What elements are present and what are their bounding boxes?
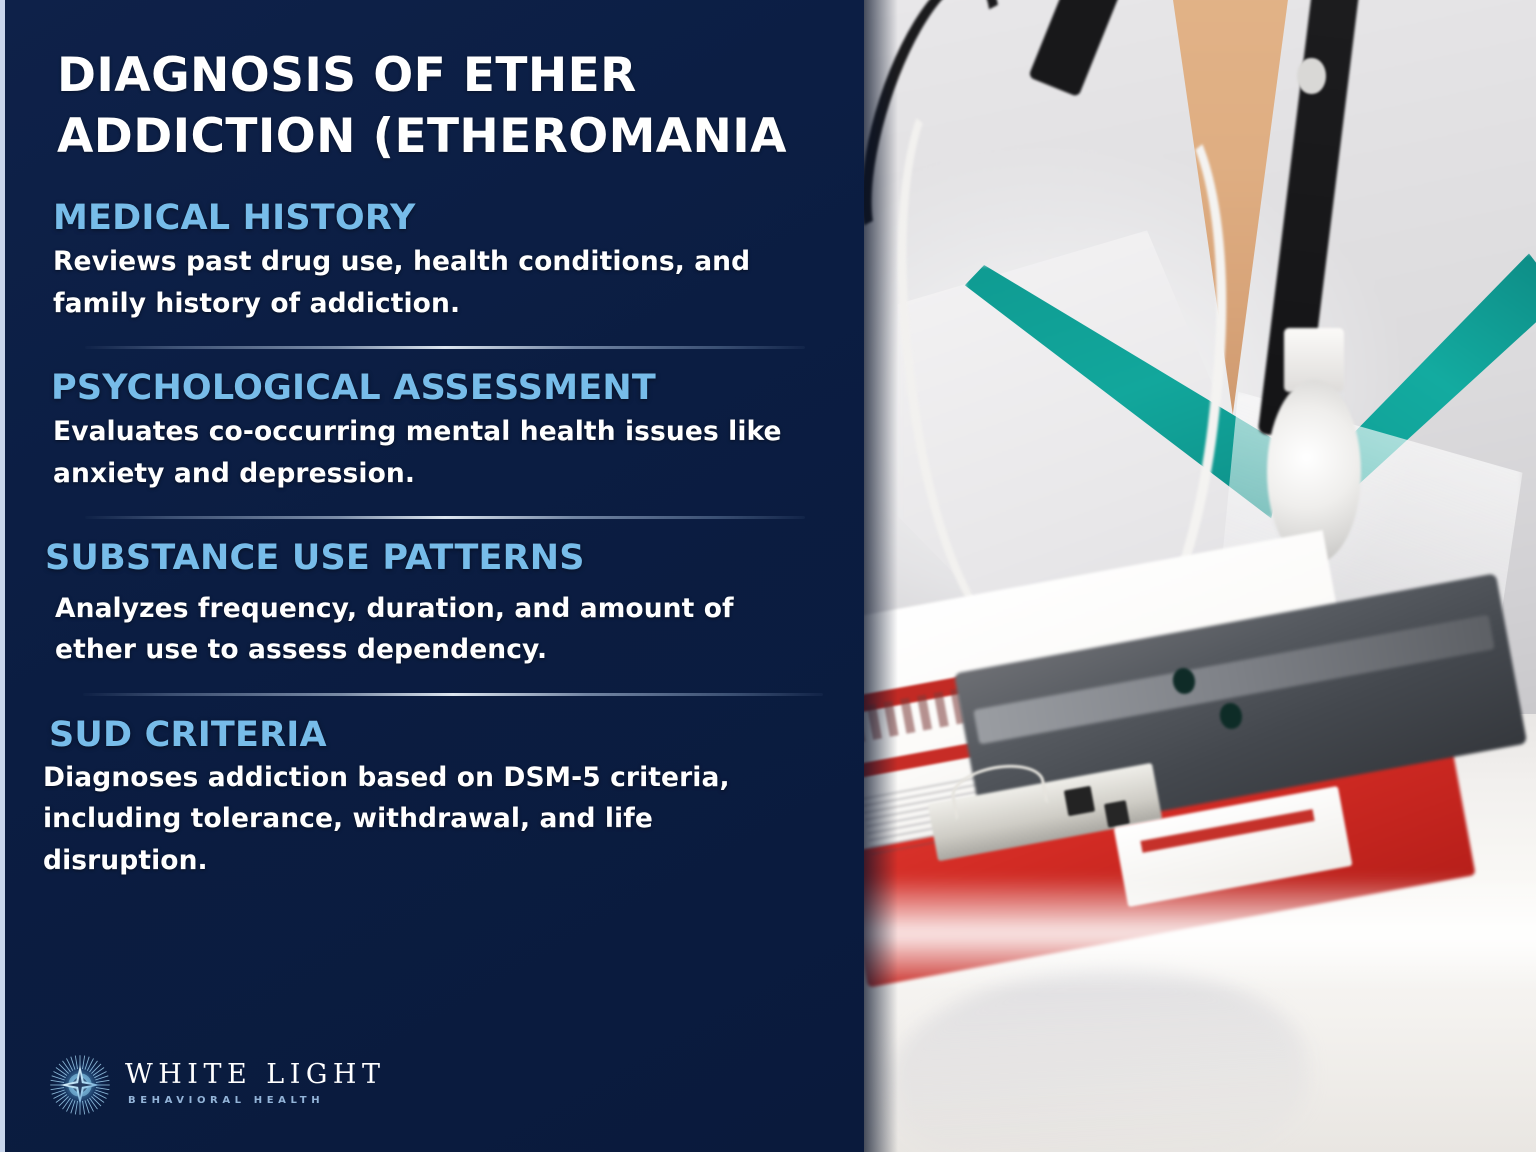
section-body: Reviews past drug use, health conditions… <box>5 238 805 324</box>
photo-desk-sheen <box>864 876 1536 991</box>
section-psychological-assessment: PSYCHOLOGICAL ASSESSMENT Evaluates co-oc… <box>5 369 864 494</box>
section-divider <box>85 516 805 519</box>
page-title: DIAGNOSIS OF ETHER ADDICTION (ETHEROMANI… <box>5 46 835 167</box>
section-substance-use-patterns: SUBSTANCE USE PATTERNS Analyzes frequenc… <box>5 539 864 671</box>
section-divider <box>85 346 805 349</box>
section-body: Analyzes frequency, duration, and amount… <box>5 578 795 671</box>
section-body: Diagnoses addiction based on DSM-5 crite… <box>5 755 795 881</box>
content-panel: DIAGNOSIS OF ETHER ADDICTION (ETHEROMANI… <box>5 0 864 1152</box>
logo-wordmark: WHITE LIGHT <box>125 1061 385 1088</box>
starburst-light-icon <box>49 1054 111 1116</box>
section-heading: MEDICAL HISTORY <box>5 199 864 238</box>
photo-left-edge-shadow <box>864 0 898 1152</box>
section-divider <box>83 693 823 696</box>
photo-clip-detail-one <box>1063 786 1094 817</box>
logo-tagline: BEHAVIORAL HEALTH <box>128 1095 385 1106</box>
photo-clip-detail-two <box>1104 800 1130 828</box>
brand-logo[interactable]: WHITE LIGHT BEHAVIORAL HEALTH <box>49 1054 385 1116</box>
section-sud-criteria: SUD CRITERIA Diagnoses addiction based o… <box>5 716 864 881</box>
section-heading: SUD CRITERIA <box>5 716 864 755</box>
infographic-root: DIAGNOSIS OF ETHER ADDICTION (ETHEROMANI… <box>0 0 1536 1152</box>
section-heading: SUBSTANCE USE PATTERNS <box>5 539 864 578</box>
logo-text-block: WHITE LIGHT BEHAVIORAL HEALTH <box>125 1061 385 1110</box>
sections-list: MEDICAL HISTORY Reviews past drug use, h… <box>5 199 864 881</box>
section-heading: PSYCHOLOGICAL ASSESSMENT <box>5 369 864 408</box>
section-body: Evaluates co-occurring mental health iss… <box>5 408 820 494</box>
doctor-photo <box>864 0 1536 1152</box>
photo-stethoscope-ring <box>1297 58 1325 95</box>
section-medical-history: MEDICAL HISTORY Reviews past drug use, h… <box>5 199 864 324</box>
